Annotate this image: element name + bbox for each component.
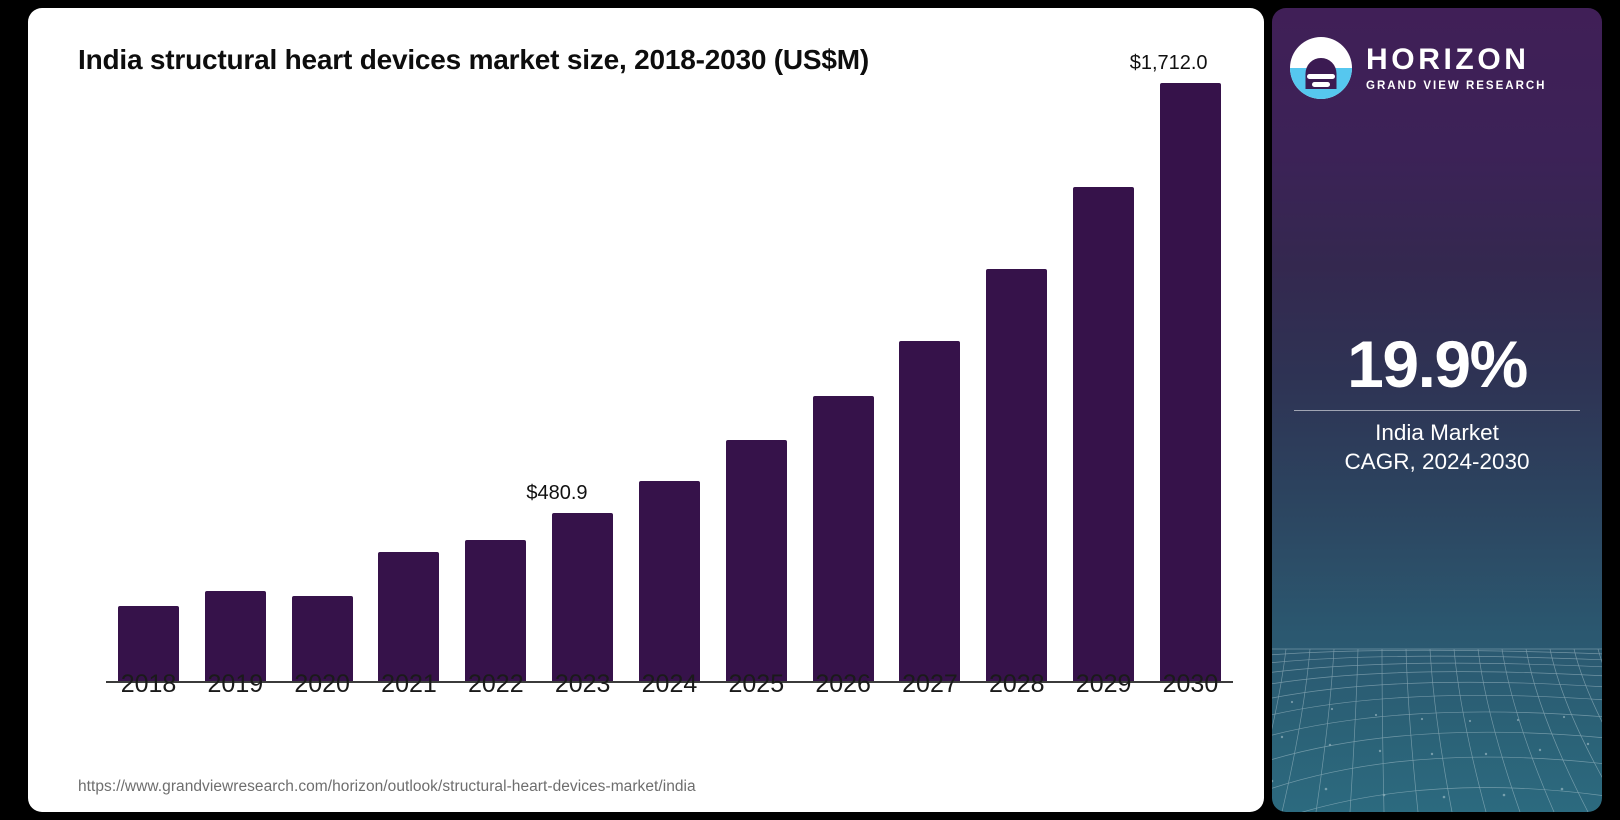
- brand-logo-text: HORIZON GRAND VIEW RESEARCH: [1366, 44, 1546, 92]
- chart-card: India structural heart devices market si…: [28, 8, 1264, 812]
- x-tick-2019: 2019: [193, 670, 278, 699]
- x-tick-2020: 2020: [280, 670, 365, 699]
- x-tick-2026: 2026: [801, 670, 886, 699]
- screenshot-root: India structural heart devices market si…: [0, 0, 1620, 820]
- bar-slot: [106, 78, 191, 681]
- bar-slot: [801, 78, 886, 681]
- bar-slot: $1,712.0: [1148, 78, 1233, 681]
- cagr-divider: [1294, 410, 1580, 411]
- brand-name: HORIZON: [1366, 44, 1546, 76]
- bar-2024[interactable]: [639, 481, 700, 681]
- bar-2019[interactable]: [205, 591, 266, 681]
- bar-2020[interactable]: [292, 596, 353, 681]
- bar-slot: [366, 78, 451, 681]
- bar-slot: [193, 78, 278, 681]
- x-tick-2025: 2025: [714, 670, 799, 699]
- x-tick-2023: 2023: [540, 670, 625, 699]
- bar-2027[interactable]: [899, 341, 960, 681]
- bar-slot: [714, 78, 799, 681]
- x-tick-2024: 2024: [627, 670, 712, 699]
- bar-slot: [974, 78, 1059, 681]
- logo-bar-lower: [1312, 82, 1330, 87]
- bar-2023[interactable]: [552, 513, 613, 681]
- bar-value-label: $480.9: [526, 482, 587, 505]
- plot-area: $480.9$1,712.0: [78, 78, 1233, 683]
- bar-2021[interactable]: [378, 552, 439, 681]
- x-tick-2022: 2022: [453, 670, 538, 699]
- cagr-caption-line-2: CAGR, 2024-2030: [1272, 449, 1602, 475]
- bar-value-label: $1,712.0: [1130, 52, 1208, 75]
- brand-tagline: GRAND VIEW RESEARCH: [1366, 80, 1546, 92]
- bar-2026[interactable]: [813, 396, 874, 681]
- x-tick-2028: 2028: [974, 670, 1059, 699]
- horizon-sunset-icon: [1290, 37, 1352, 99]
- bar-slot: [627, 78, 712, 681]
- cagr-caption-line-1: India Market: [1272, 420, 1602, 446]
- bar-2022[interactable]: [465, 540, 526, 681]
- chart-title: India structural heart devices market si…: [78, 44, 869, 76]
- bar-2030[interactable]: [1160, 83, 1221, 681]
- bar-2028[interactable]: [986, 269, 1047, 681]
- cagr-value: 19.9%: [1272, 326, 1602, 402]
- x-axis-tick-labels: 2018201920202021202220232024202520262027…: [106, 670, 1233, 699]
- bar-series: $480.9$1,712.0: [106, 78, 1233, 681]
- brand-cagr-panel: HORIZON GRAND VIEW RESEARCH 19.9% India …: [1272, 8, 1602, 812]
- x-tick-2021: 2021: [366, 670, 451, 699]
- x-tick-2027: 2027: [887, 670, 972, 699]
- bar-slot: $480.9: [540, 78, 625, 681]
- bar-2025[interactable]: [726, 440, 787, 681]
- logo-bar-upper: [1307, 74, 1335, 79]
- brand-logo: HORIZON GRAND VIEW RESEARCH: [1290, 30, 1590, 106]
- bar-slot: [453, 78, 538, 681]
- source-url[interactable]: https://www.grandviewresearch.com/horizo…: [78, 778, 696, 796]
- bar-slot: [887, 78, 972, 681]
- x-tick-2029: 2029: [1061, 670, 1146, 699]
- bar-slot: [280, 78, 365, 681]
- bar-slot: [1061, 78, 1146, 681]
- perspective-grid-decoration: [1272, 597, 1602, 812]
- x-tick-2030: 2030: [1148, 670, 1233, 699]
- bar-2029[interactable]: [1073, 187, 1134, 681]
- x-tick-2018: 2018: [106, 670, 191, 699]
